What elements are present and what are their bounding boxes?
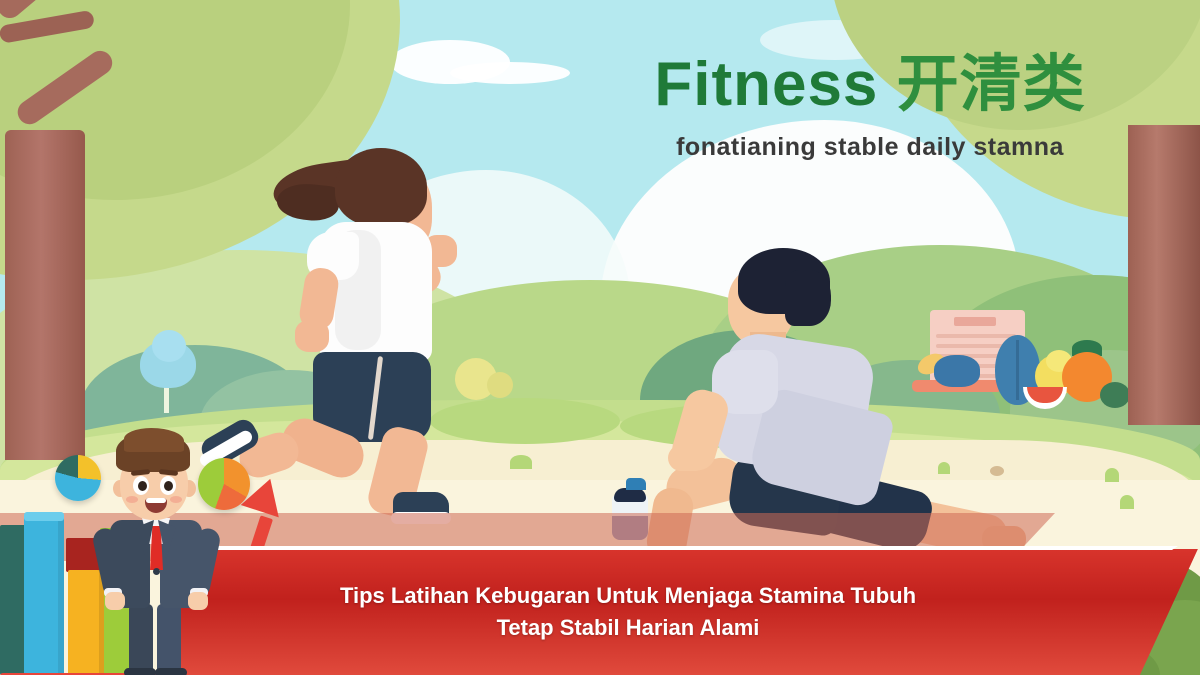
cloud-4 [450, 62, 570, 84]
headline-line-2: Tetap Stabil Harian Alami [497, 612, 760, 644]
hero-title-block: Fitness 开清类 fonatianing stable daily sta… [620, 52, 1120, 162]
bar-blue-top [24, 512, 64, 521]
bottle-spout [626, 478, 646, 490]
mascot-hair-quiff [124, 428, 184, 452]
mascot-pupil-right [164, 481, 173, 491]
pie-chart-small [55, 455, 101, 501]
mascot-leg-right [157, 604, 181, 675]
mascot-pupil-left [138, 481, 147, 491]
mascot-hand-left [105, 592, 125, 610]
tree-trunk-right [1128, 125, 1200, 425]
headline-line-1: Tips Latihan Kebugaran Untuk Menjaga Sta… [340, 580, 916, 612]
tree-trunk-left [5, 130, 85, 460]
bar-blue [24, 515, 64, 675]
avocado-fruit [1100, 382, 1130, 408]
path-stone-2 [990, 466, 1004, 476]
businessman-mascot [98, 432, 214, 675]
grass-tuft-4 [510, 455, 532, 469]
title-english: Fitness [654, 50, 878, 119]
blue-shrub-top [152, 330, 186, 362]
mascot-shoe-left [124, 668, 156, 675]
title-chinese: 开清类 [897, 50, 1086, 119]
mascot-blush-left [126, 496, 138, 503]
runner-fist-left [295, 320, 329, 352]
stretching-person-illustration [690, 240, 1020, 560]
page-subtitle: fonatianing stable daily stamna [620, 133, 1120, 162]
grass-tuft-1 [938, 462, 950, 474]
mascot-shoe-right [155, 668, 187, 675]
shrub-stem [164, 385, 169, 413]
mascot-teeth [146, 498, 166, 503]
mascot-jacket-button [153, 568, 160, 575]
page-title: Fitness 开清类 [620, 52, 1120, 117]
grass-tuft-3 [1120, 495, 1134, 509]
stretcher-hand [668, 445, 708, 471]
stretcher-hair-side [785, 270, 831, 326]
mascot-leg-left [129, 604, 153, 675]
headline-banner-text: Tips Latihan Kebugaran Untuk Menjaga Sta… [198, 549, 1138, 675]
mascot-hand-right [188, 592, 208, 610]
grass-tuft-2 [1105, 468, 1119, 482]
fitness-poster: Fitness 开清类 fonatianing stable daily sta… [0, 0, 1200, 675]
runner-hair [335, 148, 427, 226]
mascot-blush-right [170, 496, 182, 503]
bottle-cap [614, 488, 646, 502]
growth-arrow-head-icon [241, 473, 290, 518]
